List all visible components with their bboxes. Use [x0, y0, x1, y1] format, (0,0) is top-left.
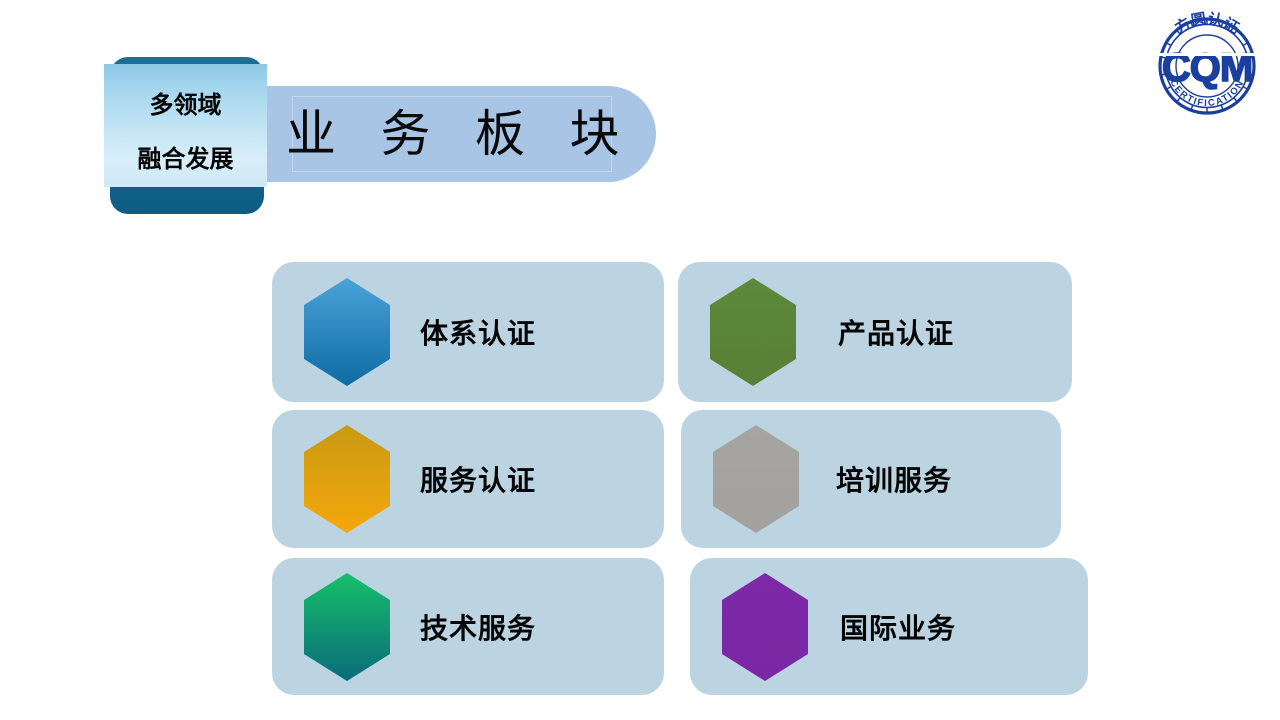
badge-line-1: 多领域	[104, 85, 267, 120]
segment-card-label: 服务认证	[420, 459, 536, 499]
hexagon-purple-icon	[721, 572, 809, 682]
hexagon-blue-icon	[303, 277, 391, 387]
segment-card[interactable]: 产品认证	[678, 262, 1072, 402]
hexagon-green-teal-icon	[303, 572, 391, 682]
slide-canvas: 业 务 板 块 多领域 融合发展	[0, 0, 1280, 720]
badge-line-2: 融合发展	[104, 139, 267, 174]
segment-card-label: 培训服务	[836, 459, 952, 499]
segment-card-label: 技术服务	[420, 607, 536, 647]
segment-card[interactable]: 服务认证	[272, 410, 664, 548]
segment-card[interactable]: 培训服务	[681, 410, 1061, 548]
segment-card[interactable]: 技术服务	[272, 558, 664, 695]
svg-text:CQM: CQM	[1162, 46, 1252, 90]
segment-card[interactable]: 体系认证	[272, 262, 664, 402]
page-title: 业 务 板 块	[286, 93, 626, 175]
hexagon-gold-icon	[303, 424, 391, 534]
header-band: 业 务 板 块 多领域 融合发展	[0, 0, 1280, 230]
segment-card[interactable]: 国际业务	[690, 558, 1088, 695]
hexagon-olive-green-icon	[709, 277, 797, 387]
cqm-certification-logo: 方圆认证 CERTIFICATION CQM	[1143, 6, 1271, 118]
hexagon-gray-icon	[712, 424, 800, 534]
segment-card-label: 国际业务	[840, 607, 956, 647]
segment-card-label: 体系认证	[420, 312, 536, 352]
segment-card-label: 产品认证	[838, 312, 954, 352]
